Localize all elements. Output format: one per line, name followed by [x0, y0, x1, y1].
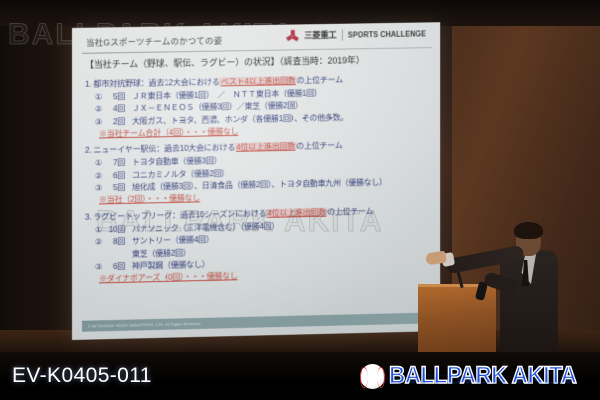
item-text: 大阪ガス、トヨタ、西濃、ホンダ（各優勝1回）、その他多数。: [132, 113, 348, 126]
item-text: 東芝（優勝2回）: [132, 248, 190, 258]
copyright-text: © MITSUBISHI HEAVY INDUSTRIES, LTD. All …: [82, 321, 201, 328]
section-head-pre: 都市対抗野球：過去12大会における: [93, 77, 219, 88]
section-number: 3.: [85, 212, 91, 221]
item-count: 6回: [106, 170, 132, 183]
section-ekiden: 2. ニューイヤー駅伝：過去10大会における4位以上進出回数の上位チーム ①7回…: [85, 138, 430, 207]
item-count: 8回: [106, 236, 132, 249]
item-count: 10回: [106, 224, 132, 237]
section-number: 1.: [85, 79, 91, 88]
item-text: 神戸製鋼（優勝なし）: [132, 260, 210, 271]
slide-footer: © MITSUBISHI HEAVY INDUSTRIES, LTD. All …: [82, 313, 430, 332]
item-rank: ①: [95, 224, 106, 237]
item-rank: ③: [95, 116, 106, 128]
section-rugby: 3. ラグビートップリーグ：過去10シーズンにおける4位以上進出回数の上位チーム…: [85, 204, 430, 286]
presenter: [470, 222, 600, 352]
item-count: 2回: [106, 115, 132, 128]
item-text: サントリー（優勝4回）: [132, 235, 214, 246]
item-rank: ②: [95, 237, 106, 250]
item-rank: ①: [95, 158, 106, 171]
section-head-post: の上位チーム: [327, 206, 373, 216]
item-text: ＪＸ－ＥＮＥＯＳ（優勝3回）／東芝（優勝2回）: [132, 101, 303, 113]
section-head-pre: ニューイヤー駅伝：過去10大会における: [93, 143, 235, 155]
section-head-highlight: 4位以上進出回数: [266, 207, 327, 217]
logo-wordmark: BALLPARK AKITA: [389, 362, 576, 390]
item-text: パナソニック（三洋電機含む）（優勝4回）: [132, 222, 279, 234]
section-head-post: の上位チーム: [296, 141, 342, 151]
ballpark-akita-logo: BALLPARK AKITA BALLPARK AKITA: [360, 362, 588, 390]
item-text: ＪＲ東日本（優勝1回） ／ ＮＴＴ東日本（優勝1回）: [132, 89, 322, 101]
item-rank: ②: [95, 170, 106, 183]
baseball-icon: [360, 364, 385, 389]
section-head-post: の上位チーム: [297, 75, 343, 85]
item-rank: ②: [95, 104, 106, 116]
item-rank: ③: [95, 261, 106, 274]
section-number: 2.: [85, 146, 91, 155]
section-head-pre: ラグビートップリーグ：過去10シーズンにおける: [93, 209, 266, 222]
item-count: 5回: [106, 91, 132, 104]
slide-brand-bar: 三菱重工 SPORTS CHALLENGE: [286, 27, 432, 41]
item-rank: ①: [95, 91, 106, 103]
brand-program: SPORTS CHALLENGE: [347, 29, 425, 39]
projected-slide: 当社Gスポーツチームのかつての姿 三菱重工 SPORTS CHALLENGE 【…: [72, 22, 440, 340]
section-items: ①5回ＪＲ東日本（優勝1回） ／ ＮＴＴ東日本（優勝1回） ②4回ＪＸ－ＥＮＥＯ…: [85, 86, 430, 141]
item-count: 5回: [106, 182, 132, 195]
ceiling-band: [0, 0, 600, 26]
title-divider: [82, 47, 432, 54]
section-head-highlight: 4位以上進出回数: [235, 142, 296, 152]
brand-company: 三菱重工: [304, 29, 336, 41]
slide-body: 【当社チーム（野球、駅伝、ラグビー）の状況】（調査当時：2019年） 1. 都市…: [85, 53, 430, 286]
mitsubishi-three-diamonds-icon: [286, 29, 299, 41]
caption-bar: EV-K0405-011 BALLPARK AKITA BALLPARK AKI…: [0, 352, 600, 400]
item-text: コニカミノルタ（優勝2回）: [132, 169, 229, 180]
item-count: 4回: [106, 103, 132, 116]
brand-divider: [341, 29, 342, 40]
left-wall: [0, 0, 74, 352]
section-head-highlight: ベスト4以上進出回数: [220, 76, 297, 86]
event-id-label: EV-K0405-011: [12, 364, 152, 388]
section-items: ①10回パナソニック（三洋電機含む）（優勝4回） ②8回サントリー（優勝4回） …: [85, 217, 430, 286]
item-text: トヨタ自動車（優勝3回）: [132, 157, 221, 168]
slide-heading: 【当社チーム（野球、駅伝、ラグビー）の状況】（調査当時：2019年）: [85, 53, 430, 72]
section-items: ①7回トヨタ自動車（優勝3回） ②6回コニカミノルタ（優勝2回） ③5回旭化成（…: [85, 152, 430, 208]
presenter-hair: [514, 222, 543, 239]
section-baseball: 1. 都市対抗野球：過去12大会におけるベスト4以上進出回数の上位チーム ①5回…: [85, 73, 430, 141]
item-rank: ③: [95, 182, 106, 195]
item-count: 6回: [106, 261, 132, 274]
item-count: [106, 256, 132, 257]
item-count: 7回: [106, 157, 132, 170]
